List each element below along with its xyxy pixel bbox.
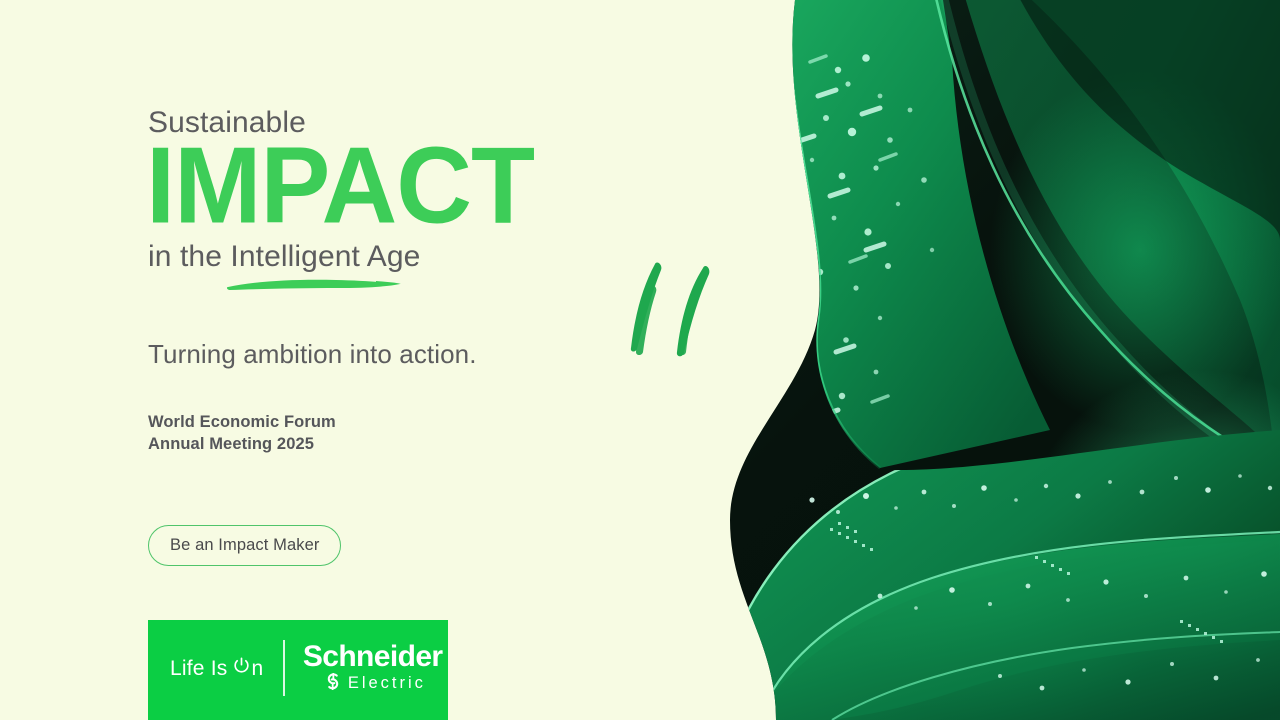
hero-content: Sustainable IMPACT in the Intelligent Ag… — [148, 0, 708, 720]
schneider-electric-mark-icon — [323, 673, 343, 695]
life-is-on-text: Life Is — [170, 657, 227, 681]
headline-tagline: in the Intelligent Age — [148, 242, 420, 272]
schneider-wordmark: Schneider Electric — [303, 642, 443, 695]
event-details: World Economic Forum Annual Meeting 2025 — [148, 411, 336, 455]
electric-text: Electric — [348, 675, 426, 692]
be-an-impact-maker-button[interactable]: Be an Impact Maker — [148, 525, 341, 566]
svg-text:IMPACT: IMPACT — [146, 138, 535, 235]
event-line-1: World Economic Forum — [148, 411, 336, 433]
life-is-on-suffix: n — [251, 657, 263, 681]
power-symbol-icon — [232, 656, 251, 681]
life-is-on-slogan: Life Is n — [170, 656, 263, 681]
schneider-electric-logo[interactable]: Life Is n Schneider — [148, 620, 448, 720]
hero-banner: Sustainable IMPACT in the Intelligent Ag… — [0, 0, 1280, 720]
headline-eyebrow: Sustainable — [148, 108, 306, 138]
schneider-name: Schneider — [303, 642, 443, 672]
event-line-2: Annual Meeting 2025 — [148, 433, 336, 455]
headline-impact: IMPACT — [146, 138, 566, 230]
brush-underline-icon — [226, 276, 402, 292]
logo-divider — [283, 640, 285, 696]
subheading: Turning ambition into action. — [148, 341, 477, 367]
